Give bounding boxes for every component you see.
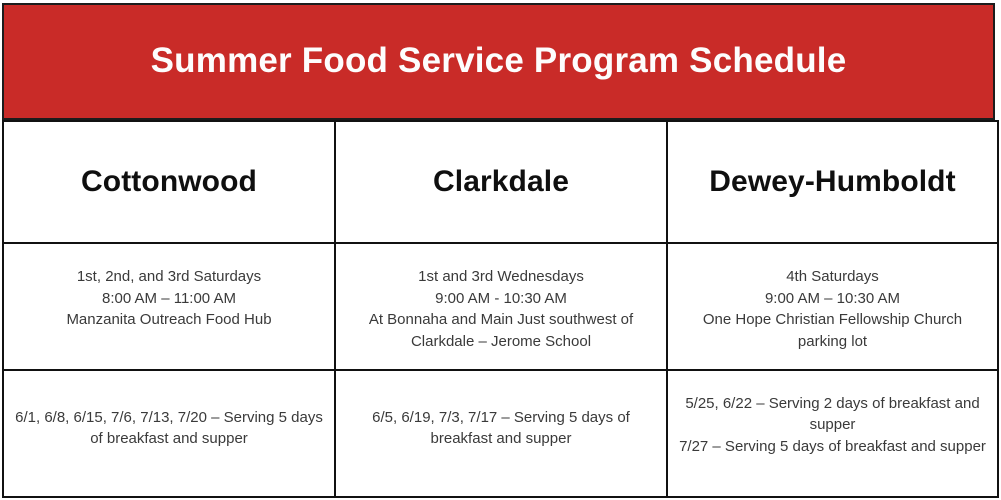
table-dates-row: 6/1, 6/8, 6/15, 7/6, 7/13, 7/20 – Servin… [4,371,999,498]
details-text: 1st, 2nd, and 3rd Saturdays8:00 AM – 11:… [66,266,271,331]
dates-cell-cottonwood: 6/1, 6/8, 6/15, 7/6, 7/13, 7/20 – Servin… [4,371,336,496]
table-header-row: Cottonwood Clarkdale Dewey-Humboldt [4,122,999,244]
details-cell-cottonwood: 1st, 2nd, and 3rd Saturdays8:00 AM – 11:… [4,244,336,368]
column-header-label: Dewey-Humboldt [709,165,955,200]
page-title: Summer Food Service Program Schedule [151,42,847,81]
details-cell-dewey-humboldt: 4th Saturdays9:00 AM – 10:30 AMOne Hope … [668,244,999,368]
dates-text: 5/25, 6/22 – Serving 2 days of breakfast… [678,393,987,458]
details-text: 4th Saturdays9:00 AM – 10:30 AMOne Hope … [678,266,987,352]
dates-cell-dewey-humboldt: 5/25, 6/22 – Serving 2 days of breakfast… [668,371,999,496]
column-header-cell-cottonwood: Cottonwood [4,122,336,242]
column-header-cell-clarkdale: Clarkdale [336,122,668,242]
column-header-cell-dewey-humboldt: Dewey-Humboldt [668,122,999,242]
table-details-row: 1st, 2nd, and 3rd Saturdays8:00 AM – 11:… [4,244,999,370]
dates-text: 6/1, 6/8, 6/15, 7/6, 7/13, 7/20 – Servin… [14,407,324,450]
summer-food-service-flyer: Summer Food Service Program Schedule Cot… [0,0,1001,500]
title-banner: Summer Food Service Program Schedule [2,3,995,120]
dates-text: 6/5, 6/19, 7/3, 7/17 – Serving 5 days of… [346,407,656,450]
details-text: 1st and 3rd Wednesdays9:00 AM - 10:30 AM… [346,266,656,352]
column-header-label: Clarkdale [433,165,569,200]
details-cell-clarkdale: 1st and 3rd Wednesdays9:00 AM - 10:30 AM… [336,244,668,368]
dates-cell-clarkdale: 6/5, 6/19, 7/3, 7/17 – Serving 5 days of… [336,371,668,496]
column-header-label: Cottonwood [81,165,257,200]
schedule-table: Cottonwood Clarkdale Dewey-Humboldt 1st,… [2,120,999,498]
